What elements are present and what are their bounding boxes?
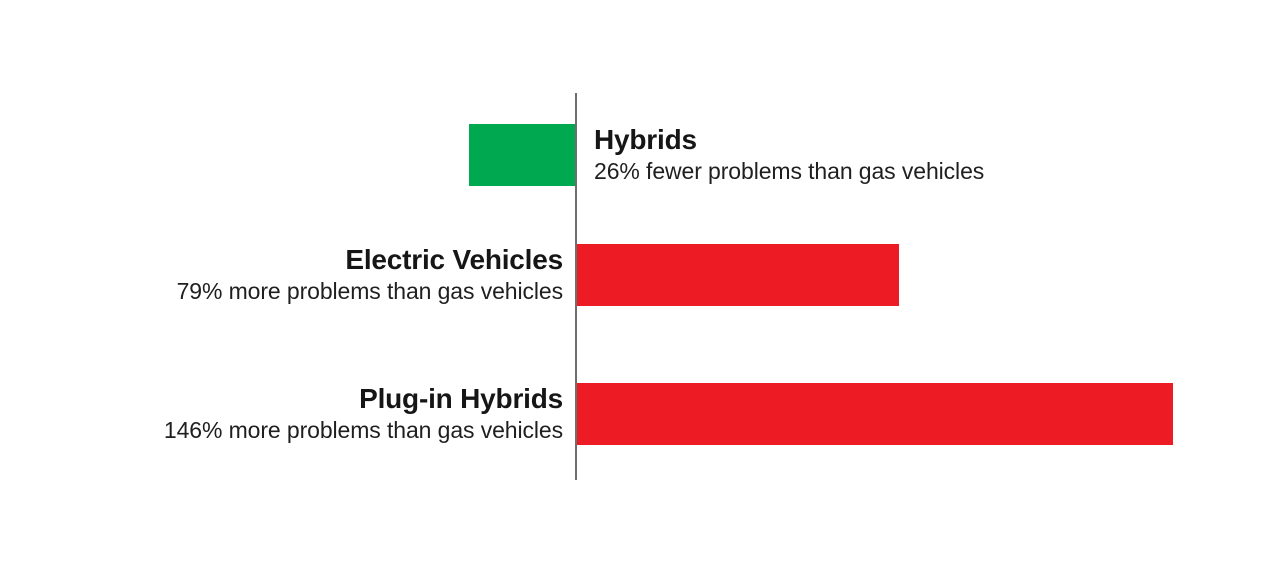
bar-plugin-hybrids [577,383,1173,445]
bar-label-electric-vehicles-title: Electric Vehicles [177,244,563,275]
bar-electric-vehicles [577,244,899,306]
bar-label-electric-vehicles-subtitle: 79% more problems than gas vehicles [177,278,563,306]
bar-label-hybrids-title: Hybrids [594,124,984,155]
bar-label-hybrids-subtitle: 26% fewer problems than gas vehicles [594,158,984,186]
bar-hybrids [469,124,575,186]
label-group-plugin-hybrids: Plug-in Hybrids 146% more problems than … [164,383,563,445]
bar-label-plugin-hybrids-subtitle: 146% more problems than gas vehicles [164,417,563,445]
label-group-hybrids: Hybrids 26% fewer problems than gas vehi… [594,124,984,186]
bar-chart: Hybrids 26% fewer problems than gas vehi… [0,0,1280,565]
bar-label-plugin-hybrids-title: Plug-in Hybrids [164,383,563,414]
label-group-electric-vehicles: Electric Vehicles 79% more problems than… [177,244,563,306]
